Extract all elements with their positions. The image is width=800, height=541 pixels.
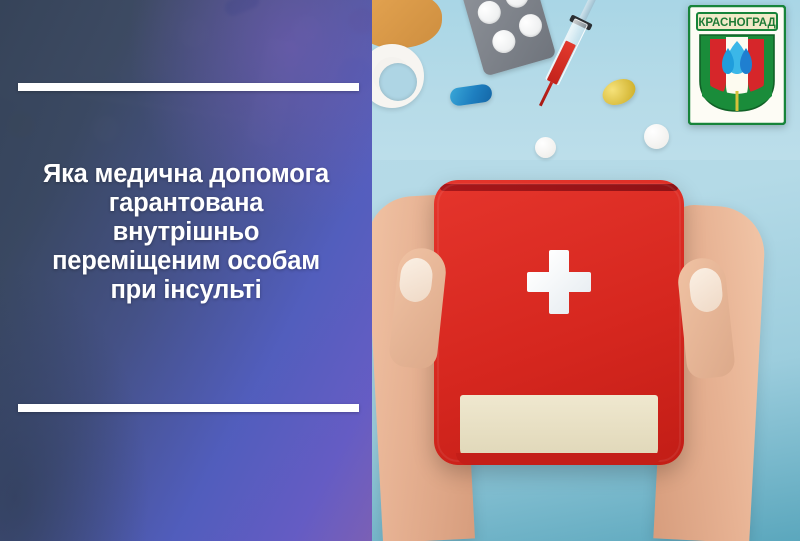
kit-base <box>456 453 662 465</box>
kit-cream-band <box>460 395 658 459</box>
headline-line-3: внутрішньо <box>6 218 366 247</box>
page-title: Яка медична допомога гарантована внутріш… <box>6 160 366 305</box>
logo-banner-text: КРАСНОГРАД <box>698 17 775 29</box>
divider-rule-top <box>18 83 359 91</box>
divider-rule-bottom <box>18 404 359 412</box>
headline-line-2: гарантована <box>6 189 366 218</box>
poster-canvas: Яка медична допомога гарантована внутріш… <box>0 0 800 541</box>
headline-line-1: Яка медична допомога <box>6 160 366 189</box>
first-aid-kit <box>434 180 684 465</box>
pill <box>490 27 518 55</box>
pill <box>516 11 544 39</box>
pill <box>475 0 503 27</box>
headline-line-4: переміщеним особам <box>6 247 366 276</box>
pill <box>503 0 531 10</box>
krasnohrad-coat-of-arms-logo: КРАСНОГРАД <box>688 5 786 125</box>
white-tablet-icon <box>644 124 669 149</box>
headline-line-5: при інсульті <box>6 276 366 305</box>
medical-cross-icon <box>527 250 591 314</box>
white-tablet-icon <box>535 137 556 158</box>
